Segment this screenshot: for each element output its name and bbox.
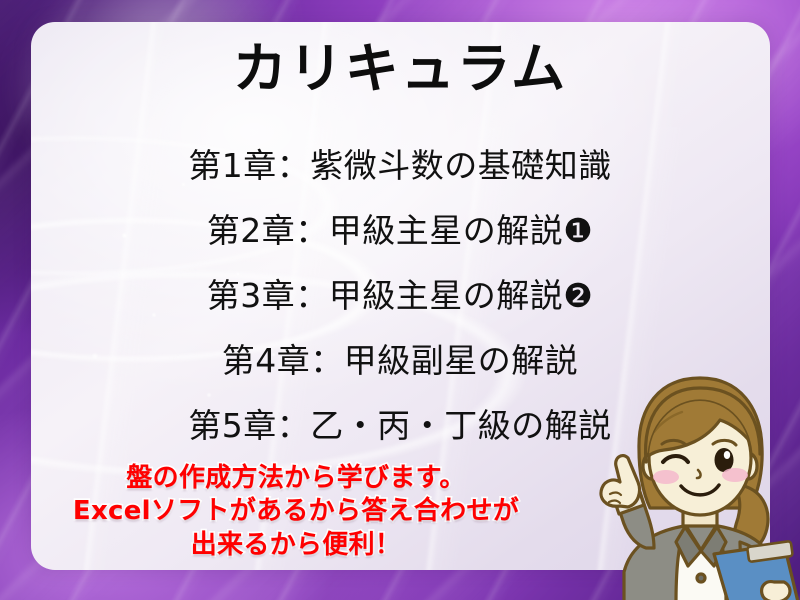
chapter-marker-one-icon: ❶ bbox=[563, 214, 593, 247]
woman-pointing-illustration bbox=[588, 366, 800, 600]
chapter-label: 第1章：紫微斗数の基礎知識 bbox=[188, 149, 612, 182]
callout-line-2: Excelソフトがあるから答え合わせが bbox=[36, 495, 556, 528]
list-item: 第1章：紫微斗数の基礎知識 bbox=[0, 133, 800, 198]
blush-left bbox=[653, 470, 679, 484]
callout-line-3: 出来るから便利！ bbox=[36, 529, 556, 562]
chapter-label: 第2章：甲級主星の解説 bbox=[207, 214, 564, 247]
hand-pointing bbox=[601, 456, 640, 507]
blush-right bbox=[722, 468, 748, 482]
suit-button bbox=[697, 574, 705, 582]
eye-open bbox=[715, 448, 734, 472]
chapter-label: 第5章：乙・丙・丁級の解説 bbox=[188, 409, 612, 442]
eye-highlight bbox=[724, 451, 730, 459]
callout-line-1: 盤の作成方法から学びます。 bbox=[36, 462, 556, 495]
callout-text: 盤の作成方法から学びます。 Excelソフトがあるから答え合わせが 出来るから便… bbox=[36, 462, 556, 562]
chapter-marker-two-icon: ❷ bbox=[563, 279, 593, 312]
chapter-label: 第4章：甲級副星の解説 bbox=[222, 344, 579, 377]
slide-canvas: カリキュラム 第1章：紫微斗数の基礎知識 第2章：甲級主星の解説❶ 第3章：甲級… bbox=[0, 0, 800, 600]
chapter-label: 第3章：甲級主星の解説 bbox=[207, 279, 564, 312]
list-item: 第3章：甲級主星の解説❷ bbox=[0, 263, 800, 328]
list-item: 第2章：甲級主星の解説❶ bbox=[0, 198, 800, 263]
page-title: カリキュラム bbox=[0, 42, 800, 96]
hand-holding bbox=[762, 582, 790, 600]
